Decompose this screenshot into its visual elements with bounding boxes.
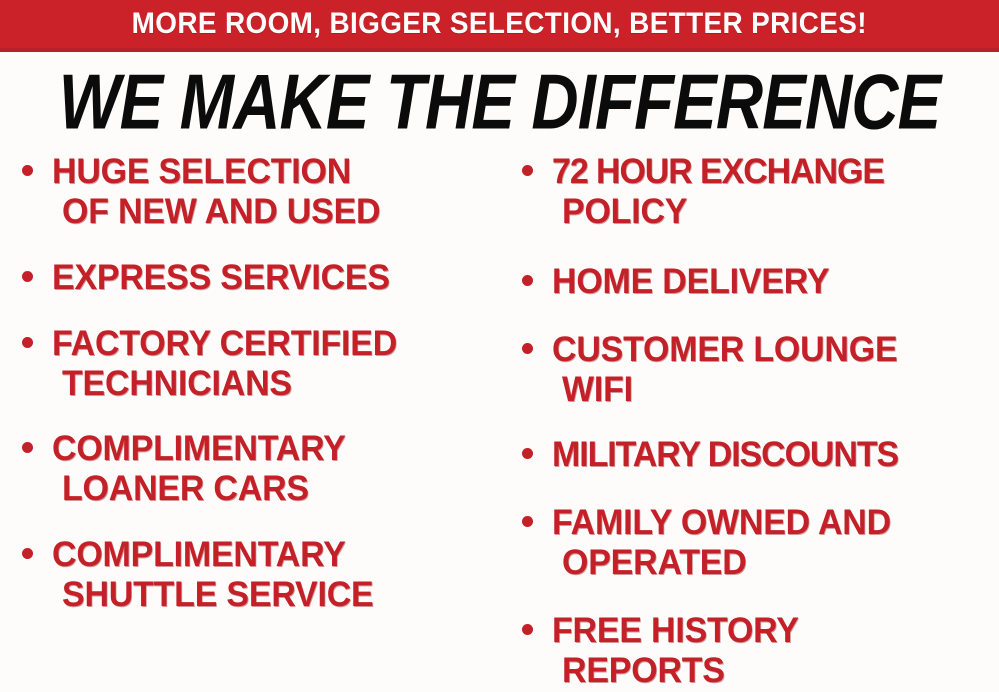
bullet-dot-icon bbox=[522, 275, 533, 286]
benefit-line-2: WIFI bbox=[562, 370, 986, 410]
benefit-list-left: HUGE SELECTION OF NEW AND USED EXPRESS S… bbox=[8, 152, 500, 615]
bullet-dot-icon bbox=[522, 343, 533, 354]
benefit-line-2: LOANER CARS bbox=[62, 469, 487, 509]
list-item: CUSTOMER LOUNGE WIFI bbox=[508, 330, 999, 410]
top-banner: MORE ROOM, BIGGER SELECTION, BETTER PRIC… bbox=[0, 0, 999, 52]
benefit-line-1: COMPLIMENTARY bbox=[52, 429, 487, 469]
bullet-dot-icon bbox=[522, 165, 533, 176]
list-item: FAMILY OWNED AND OPERATED bbox=[508, 503, 999, 583]
benefit-line-1: FAMILY OWNED AND bbox=[552, 503, 986, 543]
list-item: EXPRESS SERVICES bbox=[8, 258, 500, 298]
benefit-line-1: FACTORY CERTIFIED bbox=[52, 324, 487, 364]
list-item: HUGE SELECTION OF NEW AND USED bbox=[8, 152, 500, 232]
list-item: FACTORY CERTIFIED TECHNICIANS bbox=[8, 324, 500, 404]
list-item: MILITARY DISCOUNTS bbox=[508, 435, 999, 475]
list-item: FREE HISTORY REPORTS bbox=[508, 611, 999, 691]
benefits-column-right: 72 HOUR EXCHANGE POLICY HOME DELIVERY CU… bbox=[508, 152, 999, 692]
bullet-dot-icon bbox=[22, 442, 33, 453]
bullet-dot-icon bbox=[522, 516, 533, 527]
benefit-line-1: COMPLIMENTARY bbox=[52, 535, 487, 575]
benefit-line-1: EXPRESS SERVICES bbox=[52, 258, 487, 298]
bullet-dot-icon bbox=[522, 448, 533, 459]
benefit-line-1: 72 HOUR EXCHANGE bbox=[552, 152, 986, 192]
benefit-line-2: OF NEW AND USED bbox=[62, 192, 487, 232]
headline-region: WE MAKE THE DIFFERENCE bbox=[0, 56, 999, 150]
banner-headline-text: MORE ROOM, BIGGER SELECTION, BETTER PRIC… bbox=[132, 9, 867, 39]
benefit-line-2: SHUTTLE SERVICE bbox=[62, 575, 487, 615]
bullet-dot-icon bbox=[22, 337, 33, 348]
list-item: 72 HOUR EXCHANGE POLICY bbox=[508, 152, 999, 232]
benefit-list-right: 72 HOUR EXCHANGE POLICY HOME DELIVERY CU… bbox=[508, 152, 999, 691]
benefit-line-2: TECHNICIANS bbox=[62, 364, 487, 404]
bullet-dot-icon bbox=[22, 548, 33, 559]
bullet-dot-icon bbox=[22, 165, 33, 176]
list-item: COMPLIMENTARY LOANER CARS bbox=[8, 429, 500, 509]
benefit-line-1: HOME DELIVERY bbox=[552, 262, 986, 302]
benefits-columns: HUGE SELECTION OF NEW AND USED EXPRESS S… bbox=[0, 152, 999, 692]
benefit-line-2: REPORTS bbox=[562, 651, 986, 691]
bullet-dot-icon bbox=[22, 271, 33, 282]
benefit-line-1: HUGE SELECTION bbox=[52, 152, 487, 192]
list-item: HOME DELIVERY bbox=[508, 262, 999, 302]
promo-poster: MORE ROOM, BIGGER SELECTION, BETTER PRIC… bbox=[0, 0, 999, 692]
benefit-line-1: MILITARY DISCOUNTS bbox=[552, 435, 986, 475]
bullet-dot-icon bbox=[522, 624, 533, 635]
main-headline: WE MAKE THE DIFFERENCE bbox=[59, 64, 941, 142]
benefit-line-1: CUSTOMER LOUNGE bbox=[552, 330, 986, 370]
benefit-line-1: FREE HISTORY bbox=[552, 611, 986, 651]
list-item: COMPLIMENTARY SHUTTLE SERVICE bbox=[8, 535, 500, 615]
benefit-line-2: POLICY bbox=[562, 192, 986, 232]
benefit-line-2: OPERATED bbox=[562, 543, 986, 583]
benefits-column-left: HUGE SELECTION OF NEW AND USED EXPRESS S… bbox=[8, 152, 500, 641]
